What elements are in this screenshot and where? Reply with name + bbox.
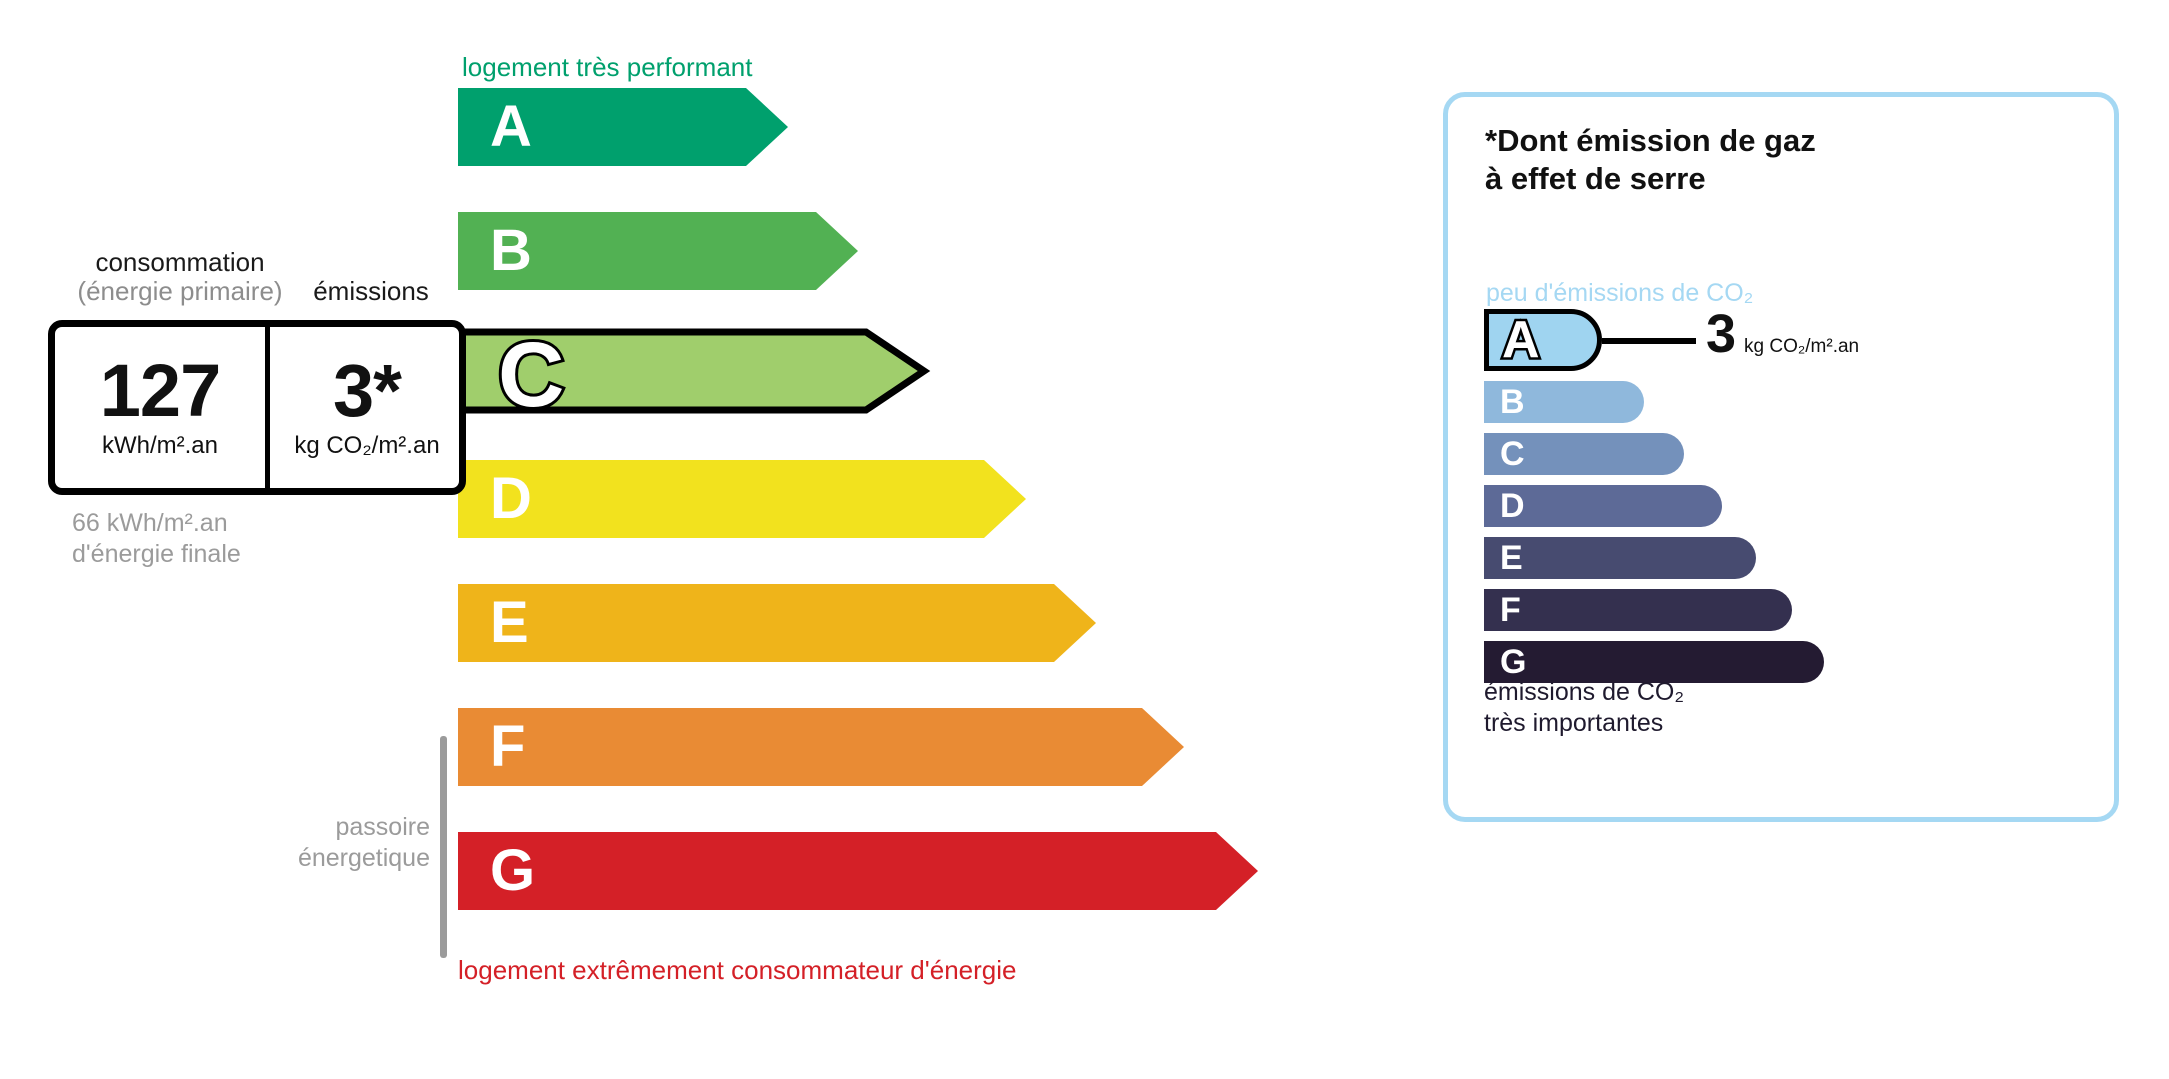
energy-class-letter-b: B [490, 222, 532, 280]
co2-class-letter-e: E [1500, 541, 1523, 575]
consumption-value-cell: 127 kWh/m².an [55, 327, 265, 488]
bar-body [458, 460, 984, 538]
emissions-value-cell: 3* kg CO₂/m².an [265, 327, 464, 488]
energy-class-bar-f: F [458, 708, 1184, 786]
co2-bar-body [1484, 589, 1792, 631]
bar-body [458, 708, 1142, 786]
bar-body [458, 832, 1216, 910]
co2-class-bar-f: F [1484, 589, 1792, 631]
co2-panel: *Dont émission de gaz à effet de serre p… [1443, 92, 2119, 822]
energy-class-letter-g: G [490, 842, 535, 900]
energy-class-bar-shape-e [458, 584, 1096, 662]
co2-class-bar-e: E [1484, 537, 1756, 579]
co2-class-bars: A3kg CO₂/m².anBCDEFG [1484, 309, 1884, 669]
emissions-value: 3* [333, 355, 401, 426]
energy-class-letter-f: F [490, 718, 525, 776]
energy-class-letter-e: E [490, 594, 529, 652]
co2-value: 3 [1706, 307, 1736, 361]
consumption-value: 127 [100, 355, 220, 426]
consumption-subheader-label: (énergie primaire) [60, 277, 300, 306]
final-energy-line-1: 66 kWh/m².an [72, 508, 241, 539]
co2-bar-body [1484, 537, 1756, 579]
bar-arrow-tip [1142, 708, 1184, 786]
energy-bottom-caption: logement extrêmement consommateur d'éner… [458, 955, 1016, 986]
co2-class-bar-b: B [1484, 381, 1644, 423]
bar-body [458, 584, 1054, 662]
energy-class-bars: ABCDEFG [458, 88, 1278, 958]
energy-class-bar-b: B [458, 212, 858, 290]
bar-arrow-tip [746, 88, 788, 166]
co2-class-bar-a: A3kg CO₂/m².an [1484, 309, 1602, 371]
bar-arrow-tip [984, 460, 1026, 538]
energy-class-letter-a: A [490, 98, 532, 156]
co2-class-letter-g: G [1500, 645, 1526, 679]
energy-class-letter-c: C [498, 329, 564, 421]
energy-class-bar-c: C [458, 336, 928, 414]
co2-value-group: 3kg CO₂/m².an [1706, 307, 1859, 361]
emissions-header: émissions [296, 276, 446, 307]
energy-class-bar-a: A [458, 88, 788, 166]
energy-class-bar-shape-f [458, 708, 1184, 786]
energy-class-bar-e: E [458, 584, 1096, 662]
co2-panel-title: *Dont émission de gaz à effet de serre [1485, 122, 1816, 198]
co2-class-bar-c: C [1484, 433, 1684, 475]
co2-connector-line [1602, 338, 1696, 344]
co2-bottom-caption: émissions de CO₂ très importantes [1484, 677, 1684, 740]
passoire-marker-line [440, 736, 447, 958]
co2-class-letter-c: C [1500, 437, 1525, 471]
co2-unit: kg CO₂/m².an [1744, 336, 1859, 358]
passoire-label-line-2: énergetique [240, 843, 430, 874]
consumption-header-label: consommation [95, 247, 264, 277]
energy-class-bar-shape-d [458, 460, 1026, 538]
co2-class-letter-a: A [1502, 314, 1540, 366]
bar-arrow-tip [816, 212, 858, 290]
consumption-header: consommation (énergie primaire) [60, 248, 300, 306]
emissions-unit: kg CO₂/m².an [294, 432, 439, 460]
passoire-label: passoire énergetique [240, 812, 430, 875]
dpe-energy-panel: logement très performant consommation (é… [0, 0, 1400, 1079]
energy-top-caption: logement très performant [462, 52, 752, 83]
bar-arrow-tip [1054, 584, 1096, 662]
consumption-unit: kWh/m².an [102, 432, 218, 460]
value-box: 127 kWh/m².an 3* kg CO₂/m².an [48, 320, 466, 495]
energy-class-bar-g: G [458, 832, 1258, 910]
co2-class-letter-f: F [1500, 593, 1521, 627]
energy-class-letter-d: D [490, 470, 532, 528]
final-energy-note: 66 kWh/m².an d'énergie finale [72, 508, 241, 571]
co2-class-bar-d: D [1484, 485, 1722, 527]
co2-class-letter-b: B [1500, 385, 1525, 419]
energy-class-bar-d: D [458, 460, 1026, 538]
passoire-label-line-1: passoire [240, 812, 430, 843]
energy-class-bar-shape-g [458, 832, 1258, 910]
co2-class-letter-d: D [1500, 489, 1525, 523]
final-energy-line-2: d'énergie finale [72, 539, 241, 570]
bar-arrow-tip [1216, 832, 1258, 910]
